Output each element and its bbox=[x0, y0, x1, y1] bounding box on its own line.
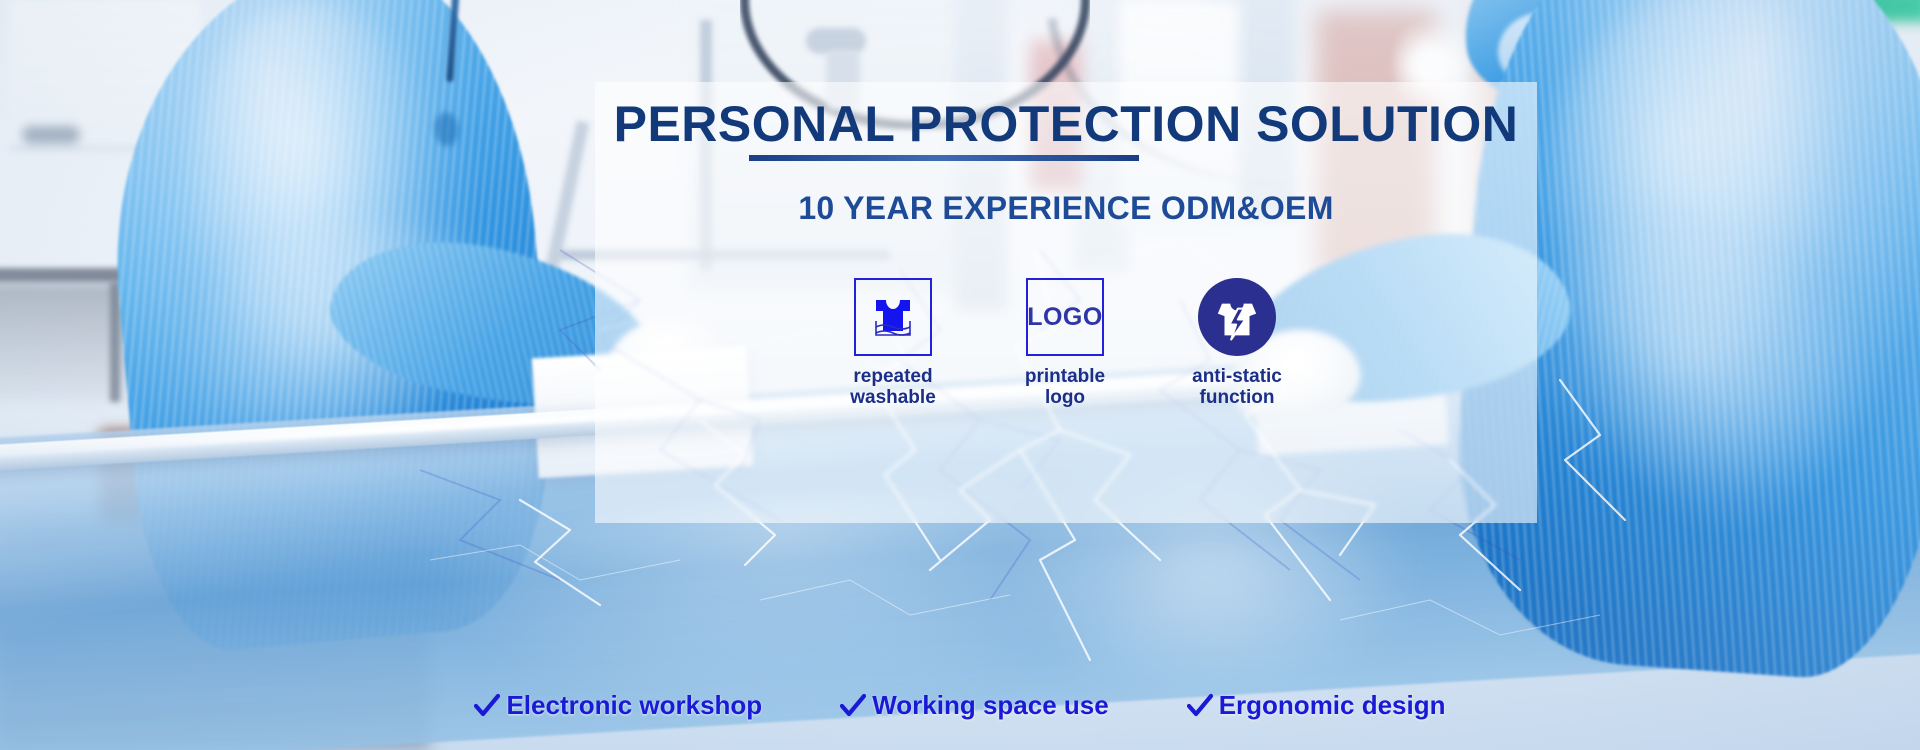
logo-box-icon: LOGO bbox=[1026, 278, 1104, 356]
benefit-label: Ergonomic design bbox=[1219, 690, 1446, 721]
feature-label: repeated washable bbox=[850, 366, 936, 409]
page-subtitle: 10 YEAR EXPERIENCE ODM&OEM bbox=[595, 190, 1537, 227]
benefits-row: Electronic workshop Working space use Er… bbox=[0, 690, 1920, 721]
check-icon bbox=[474, 693, 500, 719]
feature-label: anti-static function bbox=[1192, 366, 1282, 409]
title-divider bbox=[749, 155, 1139, 161]
benefit-label: Working space use bbox=[872, 690, 1109, 721]
feature-anti-static[interactable]: anti-static function bbox=[1162, 278, 1312, 409]
check-icon bbox=[1187, 693, 1213, 719]
check-icon bbox=[840, 693, 866, 719]
shirt-in-water-icon bbox=[854, 278, 932, 356]
benefit-ergonomic-design[interactable]: Ergonomic design bbox=[1187, 690, 1446, 721]
feature-printable-logo[interactable]: LOGO printable logo bbox=[990, 278, 1140, 409]
benefit-label: Electronic workshop bbox=[506, 690, 762, 721]
benefit-working-space-use[interactable]: Working space use bbox=[840, 690, 1109, 721]
benefit-electronic-workshop[interactable]: Electronic workshop bbox=[474, 690, 762, 721]
feature-label: printable logo bbox=[1025, 366, 1105, 409]
feature-list: repeated washable LOGO printable logo an… bbox=[740, 278, 1390, 409]
shirt-lightning-icon bbox=[1198, 278, 1276, 356]
page-title: PERSONAL PROTECTION SOLUTION bbox=[595, 96, 1537, 152]
promo-banner: PERSONAL PROTECTION SOLUTION 10 YEAR EXP… bbox=[0, 0, 1920, 750]
feature-repeated-washable[interactable]: repeated washable bbox=[818, 278, 968, 409]
